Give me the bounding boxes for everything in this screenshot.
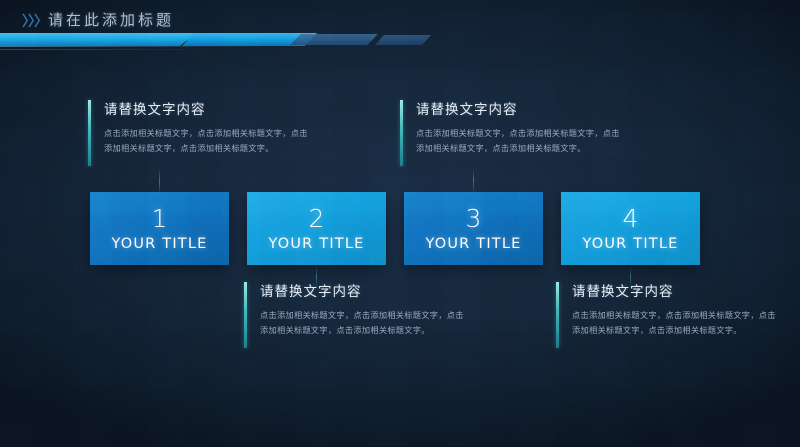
chevrons-icon: 〉〉〉 — [22, 11, 47, 31]
connector-line-1 — [159, 168, 160, 194]
text-block-body: 点击添加相关标题文字，点击添加相关标题文字，点击添加相关标题文字，点击添加相关标… — [416, 126, 622, 156]
box-number: 1 — [152, 206, 168, 231]
number-box-2[interactable]: 2 YOUR TITLE — [247, 192, 386, 265]
accent-bar-1 — [88, 100, 91, 166]
box-title: YOUR TITLE — [582, 236, 678, 252]
connector-line-2 — [473, 168, 474, 194]
number-box-1[interactable]: 1 YOUR TITLE — [90, 192, 229, 265]
accent-bar-4 — [556, 282, 559, 348]
box-title: YOUR TITLE — [425, 236, 521, 252]
accent-bar-3 — [244, 282, 247, 348]
text-block-body: 点击添加相关标题文字，点击添加相关标题文字，点击添加相关标题文字，点击添加相关标… — [572, 308, 778, 338]
text-block-heading: 请替换文字内容 — [260, 280, 466, 300]
box-number: 2 — [309, 206, 325, 231]
text-block-4: 请替换文字内容 点击添加相关标题文字，点击添加相关标题文字，点击添加相关标题文字… — [556, 280, 778, 338]
slide-canvas: 〉〉〉 请在此添加标题 请替换文字内容 点击添加相关标题文字，点击添加相关标题文… — [0, 0, 800, 447]
number-box-3[interactable]: 3 YOUR TITLE — [404, 192, 543, 265]
page-title: 请在此添加标题 — [48, 9, 174, 30]
stripe-3 — [290, 34, 378, 45]
box-title: YOUR TITLE — [268, 236, 364, 252]
text-block-heading: 请替换文字内容 — [104, 98, 310, 118]
text-block-3: 请替换文字内容 点击添加相关标题文字，点击添加相关标题文字，点击添加相关标题文字… — [244, 280, 466, 338]
box-title: YOUR TITLE — [111, 236, 207, 252]
number-box-4[interactable]: 4 YOUR TITLE — [561, 192, 700, 265]
text-block-body: 点击添加相关标题文字，点击添加相关标题文字，点击添加相关标题文字，点击添加相关标… — [260, 308, 466, 338]
text-block-1: 请替换文字内容 点击添加相关标题文字，点击添加相关标题文字，点击添加相关标题文字… — [88, 98, 310, 156]
box-number: 4 — [623, 206, 639, 231]
text-block-body: 点击添加相关标题文字，点击添加相关标题文字，点击添加相关标题文字，点击添加相关标… — [104, 126, 310, 156]
accent-bar-2 — [400, 100, 403, 166]
header-stripe-decoration — [0, 33, 330, 55]
header-underline — [0, 46, 268, 47]
stripe-1 — [0, 33, 196, 46]
text-block-2: 请替换文字内容 点击添加相关标题文字，点击添加相关标题文字，点击添加相关标题文字… — [400, 98, 622, 156]
text-block-heading: 请替换文字内容 — [416, 98, 622, 118]
slide-header: 〉〉〉 请在此添加标题 — [0, 0, 800, 58]
text-block-heading: 请替换文字内容 — [572, 280, 778, 300]
box-number: 3 — [466, 206, 482, 231]
header-underline-secondary — [0, 49, 232, 50]
stripe-4 — [375, 35, 431, 45]
